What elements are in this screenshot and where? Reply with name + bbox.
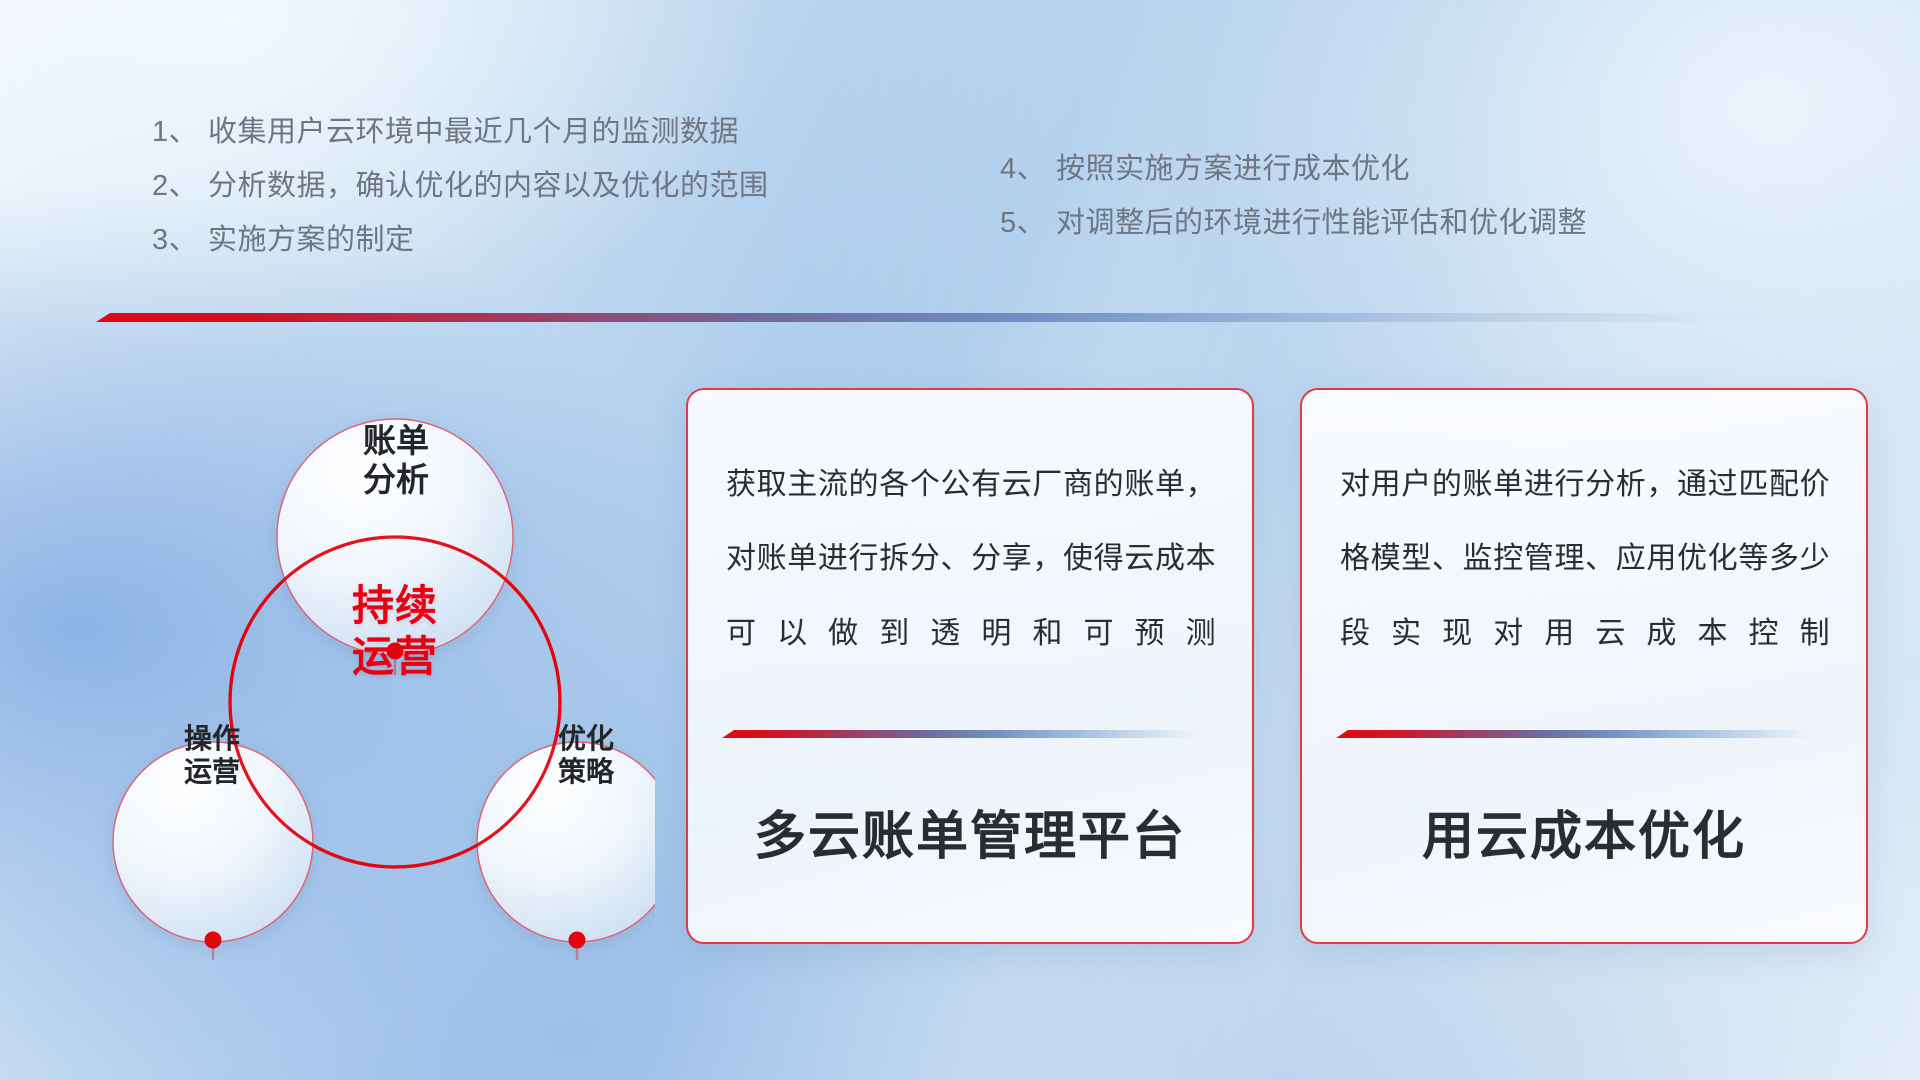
steps-list-right: 4、 按照实施方案进行成本优化 5、 对调整后的环境进行性能评估和优化调整 bbox=[1000, 155, 1587, 238]
node-dot-bottom-right bbox=[569, 932, 586, 961]
list-item-text: 收集用户云环境中最近几个月的监测数据 bbox=[208, 118, 739, 147]
section-divider-rule bbox=[96, 313, 1846, 322]
bubble-optimization-strategy bbox=[477, 742, 655, 942]
steps-list-left: 1、 收集用户云环境中最近几个月的监测数据 2、 分析数据，确认优化的内容以及优… bbox=[152, 118, 769, 255]
list-item: 4、 按照实施方案进行成本优化 bbox=[1000, 155, 1587, 184]
card-divider-rule bbox=[722, 730, 1212, 738]
list-item-number: 4、 bbox=[1000, 155, 1056, 184]
list-item-number: 1、 bbox=[152, 118, 208, 147]
list-item-text: 对调整后的环境进行性能评估和优化调整 bbox=[1056, 209, 1587, 238]
node-dot-bottom-left bbox=[205, 932, 222, 961]
list-item: 3、 实施方案的制定 bbox=[152, 226, 769, 255]
list-item-number: 3、 bbox=[152, 226, 208, 255]
list-item-text: 实施方案的制定 bbox=[208, 226, 415, 255]
list-item-text: 分析数据，确认优化的内容以及优化的范围 bbox=[208, 172, 769, 201]
card-title: 多云账单管理平台 bbox=[688, 794, 1252, 869]
list-item-number: 2、 bbox=[152, 172, 208, 201]
card-divider-rule bbox=[1336, 730, 1826, 738]
list-item: 1、 收集用户云环境中最近几个月的监测数据 bbox=[152, 118, 769, 147]
card-cloud-cost-optimization[interactable]: 对用户的账单进行分析，通过匹配价格模型、监控管理、应用优化等多少段实现对用云成本… bbox=[1300, 388, 1868, 944]
slide-canvas: 1、 收集用户云环境中最近几个月的监测数据 2、 分析数据，确认优化的内容以及优… bbox=[0, 0, 1920, 1080]
card-body-text: 对用户的账单进行分析，通过匹配价格模型、监控管理、应用优化等多少段实现对用云成本… bbox=[1340, 448, 1830, 671]
node-dot-top bbox=[387, 643, 404, 676]
list-item: 5、 对调整后的环境进行性能评估和优化调整 bbox=[1000, 209, 1587, 238]
continuous-operation-diagram: 账单 分析 操作 运营 优化 策略 持续 运营 bbox=[95, 350, 655, 960]
card-title: 用云成本优化 bbox=[1302, 794, 1866, 869]
bubble-operation-management bbox=[113, 742, 313, 942]
list-item: 2、 分析数据，确认优化的内容以及优化的范围 bbox=[152, 172, 769, 201]
card-multi-cloud-billing-platform[interactable]: 获取主流的各个公有云厂商的账单，对账单进行拆分、分享，使得云成本可以做到透明和可… bbox=[686, 388, 1254, 944]
card-body-text: 获取主流的各个公有云厂商的账单，对账单进行拆分、分享，使得云成本可以做到透明和可… bbox=[726, 448, 1216, 671]
list-item-text: 按照实施方案进行成本优化 bbox=[1056, 155, 1410, 184]
list-item-number: 5、 bbox=[1000, 209, 1056, 238]
